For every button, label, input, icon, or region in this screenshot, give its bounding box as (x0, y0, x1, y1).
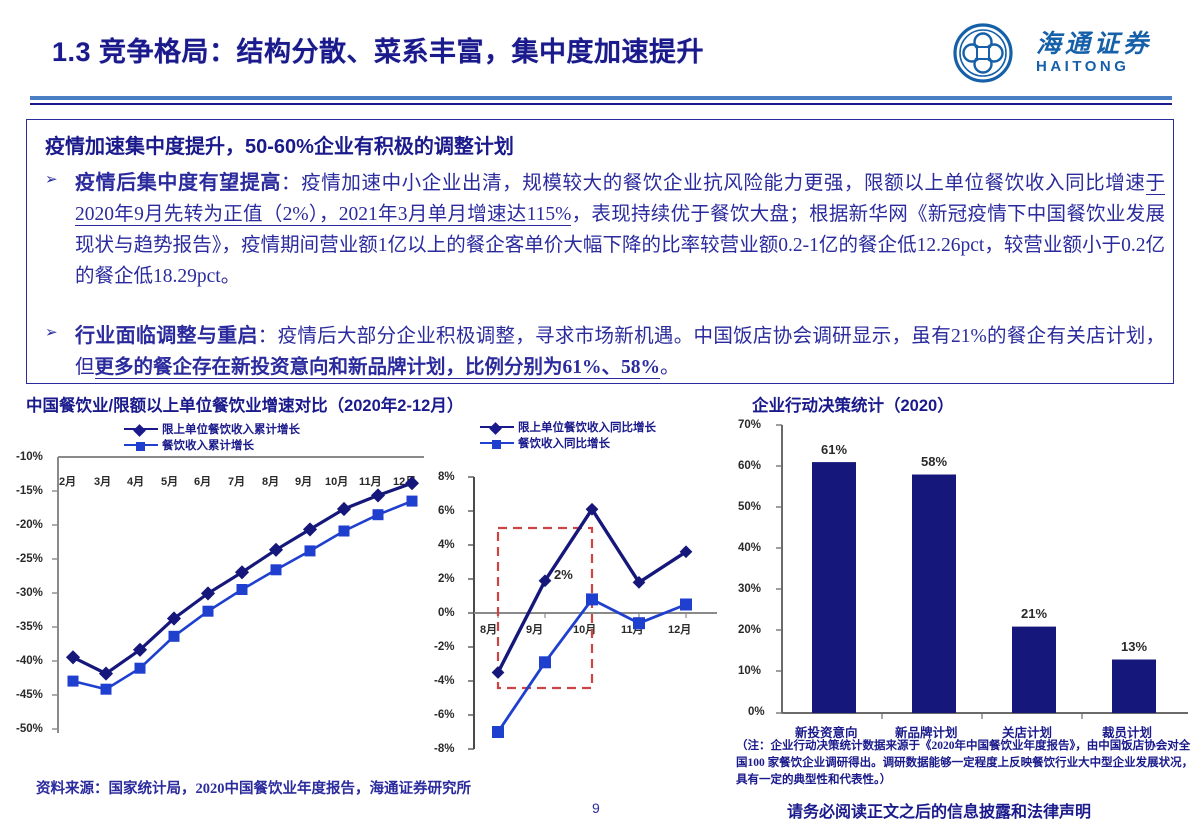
bullet-arrow-icon-2: ➢ (45, 325, 61, 340)
chart-3: 70% 60% 50% 40% 30% 20% 10% 0% (736, 410, 1194, 735)
bullet-underline-2: 更多的餐企存在新投资意向和新品牌计划，比例分别为61%、58% (95, 357, 661, 379)
haitong-emblem-icon (944, 22, 1022, 84)
bullet-text-2: 行业面临调整与重启：疫情后大部分企业积极调整，寻求市场新机遇。中国饭店协会调研显… (75, 321, 1165, 383)
bullet-body-1a: ：疫情加速中小企业出清，规模较大的餐饮企业抗风险能力更强，限额以上单位餐饮收入同… (281, 173, 1145, 194)
bar-3 (1112, 660, 1156, 714)
chart-3-value-label-2: 21% (1021, 606, 1047, 621)
header-divider (30, 96, 1172, 105)
logo-wordmark: 海通证券 HAITONG (1036, 24, 1152, 75)
chart-1-plot (14, 415, 434, 765)
chart-3-value-label-1: 58% (921, 454, 947, 469)
haitong-logo: 海通证券 HAITONG (944, 22, 1174, 84)
bar-2 (1012, 627, 1056, 713)
page-title: 1.3 竞争格局：结构分散、菜系丰富，集中度加速提升 (52, 30, 704, 69)
bar-1 (912, 475, 956, 714)
legal-disclaimer: 请务必阅读正文之后的信息披露和法律声明 (787, 798, 1091, 822)
slide: 1.3 竞争格局：结构分散、菜系丰富，集中度加速提升 海通证券 HAITONG … (0, 0, 1200, 829)
chart-1-title: 中国餐饮业/限额以上单位餐饮业增速对比（2020年2-12月） (26, 392, 463, 416)
bullet-lead-2: 行业面临调整与重启 (75, 325, 258, 347)
bar-0 (812, 462, 856, 713)
bullet-body-2b: 。 (660, 357, 680, 378)
content-box: 疫情加速集中度提升，50-60%企业有积极的调整计划 ➢ 疫情后集中度有望提高：… (26, 119, 1174, 384)
logo-english-name: HAITONG (1036, 58, 1152, 75)
chart-2: 限上单位餐饮收入同比增长 餐饮收入同比增长 8% 6% 4% 2% 0% -2%… (432, 415, 742, 765)
chart-3-value-label-3: 13% (1121, 639, 1147, 654)
slide-header: 1.3 竞争格局：结构分散、菜系丰富，集中度加速提升 海通证券 HAITONG (0, 0, 1200, 104)
chart-3-footnote: （注：企业行动决策统计数据来源于《2020年中国餐饮业年度报告》，由中国饭店协会… (736, 738, 1196, 789)
chart-2-plot (432, 415, 742, 765)
content-box-heading: 疫情加速集中度提升，50-60%企业有积极的调整计划 (45, 130, 514, 159)
logo-chinese-name: 海通证券 (1036, 24, 1152, 60)
bullet-arrow-icon: ➢ (45, 172, 61, 187)
page-number: 9 (592, 800, 600, 816)
chart-1: 限上单位餐饮收入累计增长 餐饮收入累计增长 -10% -15% -20% -25… (14, 415, 434, 765)
source-note: 资料来源：国家统计局，2020中国餐饮业年度报告，海通证券研究所 (36, 778, 506, 800)
bullet-lead-1: 疫情后集中度有望提高 (75, 172, 281, 194)
chart-3-plot (736, 410, 1194, 735)
bullet-text-1: 疫情后集中度有望提高：疫情加速中小企业出清，规模较大的餐饮企业抗风险能力更强，限… (75, 168, 1165, 292)
chart-3-value-label-0: 61% (821, 442, 847, 457)
